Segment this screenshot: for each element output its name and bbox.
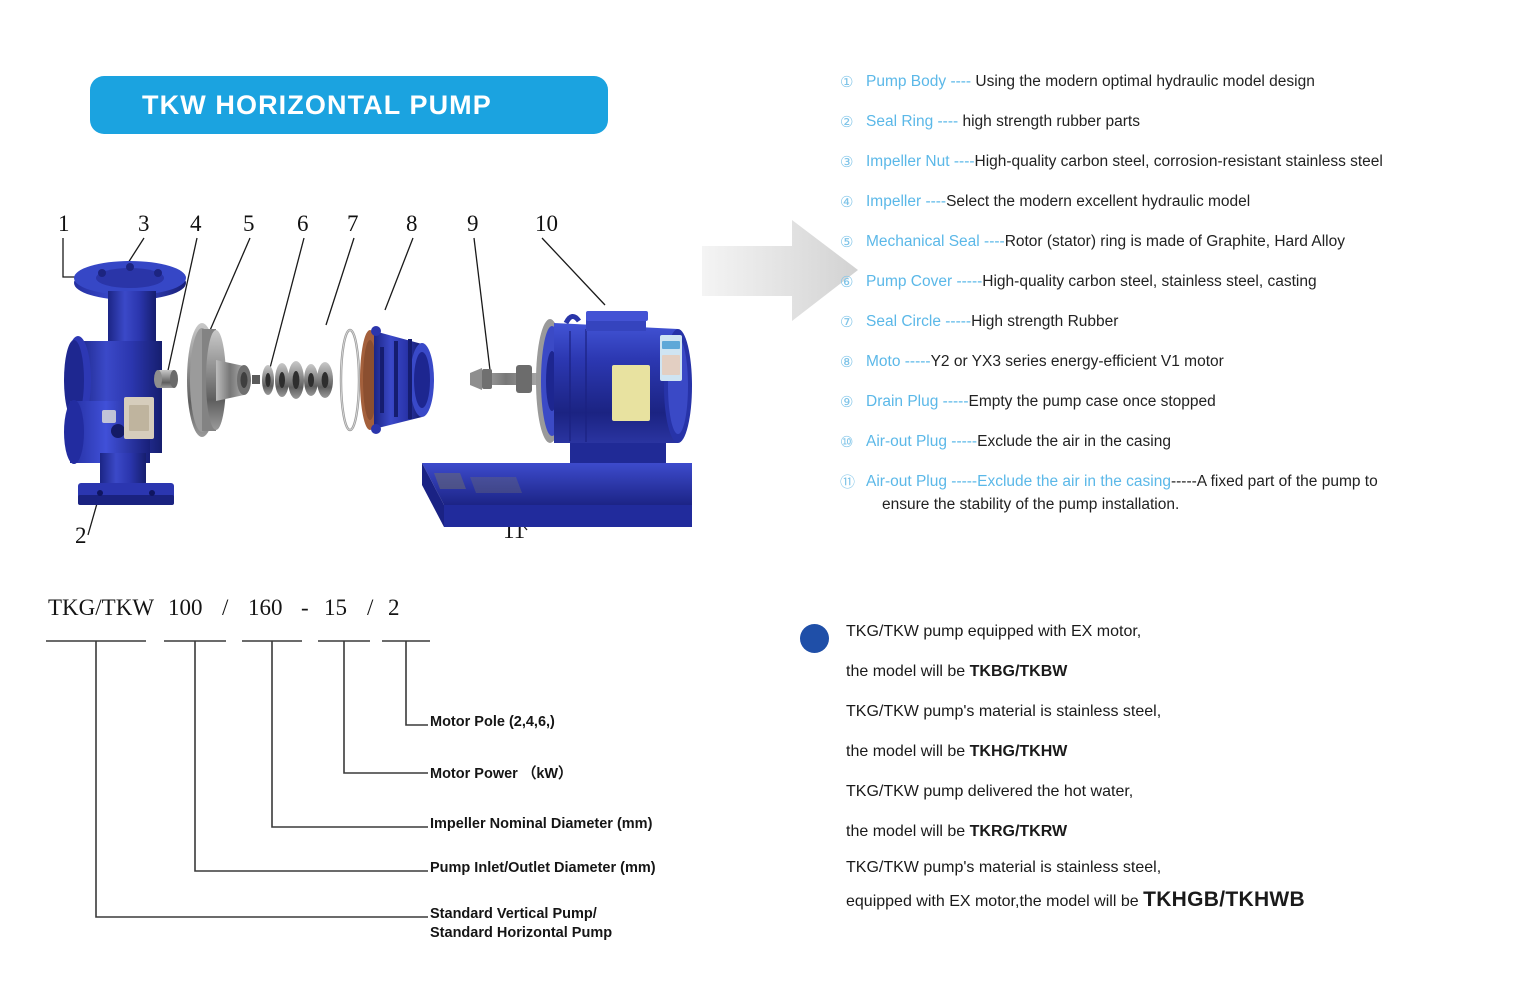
legend-text: Air-out Plug -----Exclude the air in the…	[866, 472, 1500, 515]
variant-line: TKG/TKW pump's material is stainless ste…	[846, 852, 1476, 884]
legend-separator: -----	[938, 393, 968, 410]
legend-text: Mechanical Seal ----Rotor (stator) ring …	[866, 232, 1500, 252]
base-plate	[422, 463, 692, 527]
variant-text: the model will be	[846, 823, 970, 840]
legend-text: Impeller ----Select the modern excellent…	[866, 192, 1500, 212]
legend-text: Drain Plug -----Empty the pump case once…	[866, 392, 1500, 412]
label-text: Motor Power （kW）	[430, 766, 573, 782]
legend-item: ④ Impeller ----Select the modern excelle…	[840, 192, 1500, 232]
legend-item: ⑦ Seal Circle -----High strength Rubber	[840, 312, 1500, 352]
legend-description: high strength rubber parts	[962, 113, 1140, 130]
page-title-pill: TKW HORIZONTAL PUMP	[90, 76, 608, 134]
legend-item: ⑪ Air-out Plug -----Exclude the air in t…	[840, 472, 1500, 515]
motor-shaft	[470, 365, 542, 393]
legend-number: ⑥	[840, 272, 866, 293]
variant-line: the model will be TKHG/TKHW	[846, 732, 1476, 772]
variant-text: the model will be	[846, 663, 970, 680]
legend-item: ① Pump Body ---- Using the modern optima…	[840, 72, 1500, 112]
callout-number-2: 2	[75, 523, 87, 548]
legend-text: Impeller Nut ----High-quality carbon ste…	[866, 152, 1500, 172]
legend-part-name: Air-out Plug	[866, 433, 947, 450]
mechanical-seal	[252, 361, 333, 399]
legend-description: Using the modern optimal hydraulic model…	[975, 73, 1314, 90]
legend-part-name: Impeller	[866, 193, 921, 210]
legend-item: ② Seal Ring ---- high strength rubber pa…	[840, 112, 1500, 152]
legend-number: ⑪	[840, 472, 866, 493]
callout-number-10: 10	[535, 211, 558, 236]
legend-text: Seal Ring ---- high strength rubber part…	[866, 112, 1500, 132]
impeller-nut	[154, 370, 178, 388]
legend-description: High strength Rubber	[971, 313, 1118, 330]
legend-description-blue: Exclude the air in the casing	[977, 473, 1171, 490]
parts-legend: ① Pump Body ---- Using the modern optima…	[840, 72, 1500, 515]
pump-spec-page: TKW HORIZONTAL PUMP	[0, 0, 1513, 1000]
legend-description: Select the modern excellent hydraulic mo…	[946, 193, 1250, 210]
callout-number-4: 4	[190, 211, 202, 236]
nomenclature-label-standard-pump: Standard Vertical Pump/ Standard Horizon…	[430, 906, 612, 941]
legend-part-name: Pump Cover	[866, 273, 952, 290]
callout-number-9: 9	[467, 211, 479, 236]
legend-number: ⑨	[840, 392, 866, 413]
variant-line: TKG/TKW pump's material is stainless ste…	[846, 692, 1476, 732]
variant-line: TKG/TKW pump delivered the hot water,	[846, 772, 1476, 812]
variant-text: TKG/TKW pump's material is stainless ste…	[846, 859, 1161, 876]
callout-number-7: 7	[347, 211, 359, 236]
flow-arrow	[700, 218, 860, 323]
impeller	[187, 323, 251, 437]
variant-line-list: TKG/TKW pump equipped with EX motor, the…	[846, 612, 1476, 916]
variant-model-code: TKBG/TKBW	[970, 663, 1068, 680]
variant-line: the model will be TKBG/TKBW	[846, 652, 1476, 692]
legend-separator: ----	[921, 193, 946, 210]
legend-description: High-quality carbon steel, corrosion-res…	[975, 153, 1383, 170]
legend-separator: -----	[947, 433, 977, 450]
nomenclature-label-inlet-outlet-diameter: Pump Inlet/Outlet Diameter (mm)	[430, 860, 656, 876]
legend-part-name: Impeller Nut	[866, 153, 950, 170]
legend-text: Pump Body ---- Using the modern optimal …	[866, 72, 1500, 92]
motor	[536, 311, 692, 465]
legend-number: ②	[840, 112, 866, 133]
legend-text: Air-out Plug -----Exclude the air in the…	[866, 432, 1500, 452]
legend-number: ⑩	[840, 432, 866, 453]
seal-circle	[341, 330, 359, 430]
nomenclature-leader-lines	[30, 595, 730, 970]
variant-model-code-highlight: TKHGB/TKHWB	[1143, 888, 1305, 911]
legend-description: Y2 or YX3 series energy-efficient V1 mot…	[931, 353, 1224, 370]
variant-text: TKG/TKW pump's material is stainless ste…	[846, 703, 1161, 720]
legend-separator: -----	[952, 273, 982, 290]
legend-item: ⑤ Mechanical Seal ----Rotor (stator) rin…	[840, 232, 1500, 272]
variant-model-code: TKRG/TKRW	[970, 823, 1067, 840]
legend-separator: ----	[980, 233, 1005, 250]
legend-part-name: Seal Ring	[866, 113, 933, 130]
legend-item: ⑥ Pump Cover -----High-quality carbon st…	[840, 272, 1500, 312]
legend-item: ③ Impeller Nut ----High-quality carbon s…	[840, 152, 1500, 192]
legend-part-name: Seal Circle	[866, 313, 941, 330]
variant-model-code: TKHG/TKHW	[970, 743, 1068, 760]
legend-description: Empty the pump case once stopped	[969, 393, 1216, 410]
label-text: Impeller Nominal Diameter (mm)	[430, 816, 652, 832]
legend-text: Seal Circle -----High strength Rubber	[866, 312, 1500, 332]
legend-number: ⑦	[840, 312, 866, 333]
legend-description-tail: -----A fixed part of the pump to	[1171, 473, 1378, 490]
legend-number: ⑧	[840, 352, 866, 373]
legend-separator: -----	[900, 353, 930, 370]
callout-number-6: 6	[297, 211, 309, 236]
variant-text: the model will be	[846, 743, 970, 760]
variant-line: TKG/TKW pump equipped with EX motor,	[846, 612, 1476, 652]
model-nomenclature-diagram: TKG/TKW 100 / 160 - 15 / 2	[30, 595, 730, 970]
page-title: TKW HORIZONTAL PUMP	[90, 90, 492, 121]
legend-description: High-quality carbon steel, stainless ste…	[982, 273, 1316, 290]
callout-number-1: 1	[58, 211, 70, 236]
legend-separator: ----	[933, 113, 962, 130]
legend-number: ④	[840, 192, 866, 213]
legend-description-line2: ensure the stability of the pump install…	[866, 495, 1500, 515]
legend-text: Pump Cover -----High-quality carbon stee…	[866, 272, 1500, 292]
legend-separator: -----	[947, 473, 977, 490]
legend-text: Moto -----Y2 or YX3 series energy-effici…	[866, 352, 1500, 372]
legend-description: Exclude the air in the casing	[977, 433, 1171, 450]
legend-number: ①	[840, 72, 866, 93]
variant-line-final: equipped with EX motor,the model will be…	[846, 884, 1476, 916]
callout-number-3: 3	[138, 211, 150, 236]
legend-separator: ----	[946, 73, 975, 90]
legend-part-name: Pump Body	[866, 73, 946, 90]
legend-separator: ----	[950, 153, 975, 170]
pump-cover	[360, 326, 434, 434]
exploded-pump-diagram: 1 3 4 5 6 7 8 9 10 2 11	[30, 205, 720, 570]
legend-number: ⑤	[840, 232, 866, 253]
legend-item: ⑧ Moto -----Y2 or YX3 series energy-effi…	[840, 352, 1500, 392]
legend-part-name: Mechanical Seal	[866, 233, 980, 250]
legend-part-name: Drain Plug	[866, 393, 938, 410]
variant-line: the model will be TKRG/TKRW	[846, 812, 1476, 852]
legend-number: ③	[840, 152, 866, 173]
variant-text: TKG/TKW pump equipped with EX motor,	[846, 623, 1141, 640]
legend-description: Rotor (stator) ring is made of Graphite,…	[1005, 233, 1345, 250]
legend-item: ⑩ Air-out Plug -----Exclude the air in t…	[840, 432, 1500, 472]
label-text-line2: Standard Horizontal Pump	[430, 925, 612, 941]
nomenclature-label-motor-power: Motor Power （kW）	[430, 762, 573, 783]
legend-part-name: Air-out Plug	[866, 473, 947, 490]
legend-item: ⑨ Drain Plug -----Empty the pump case on…	[840, 392, 1500, 432]
nomenclature-label-motor-pole: Motor Pole (2,4,6,)	[430, 714, 555, 730]
callout-number-8: 8	[406, 211, 418, 236]
bullet-dot-icon	[800, 624, 829, 653]
legend-separator: -----	[941, 313, 971, 330]
variant-text: equipped with EX motor,the model will be	[846, 893, 1143, 910]
label-text: Pump Inlet/Outlet Diameter (mm)	[430, 860, 656, 876]
variant-text: TKG/TKW pump delivered the hot water,	[846, 783, 1133, 800]
legend-part-name: Moto	[866, 353, 900, 370]
callout-number-5: 5	[243, 211, 255, 236]
label-text: Standard Vertical Pump/	[430, 906, 597, 922]
nomenclature-label-impeller-diameter: Impeller Nominal Diameter (mm)	[430, 816, 652, 832]
label-text: Motor Pole (2,4,6,)	[430, 714, 555, 730]
